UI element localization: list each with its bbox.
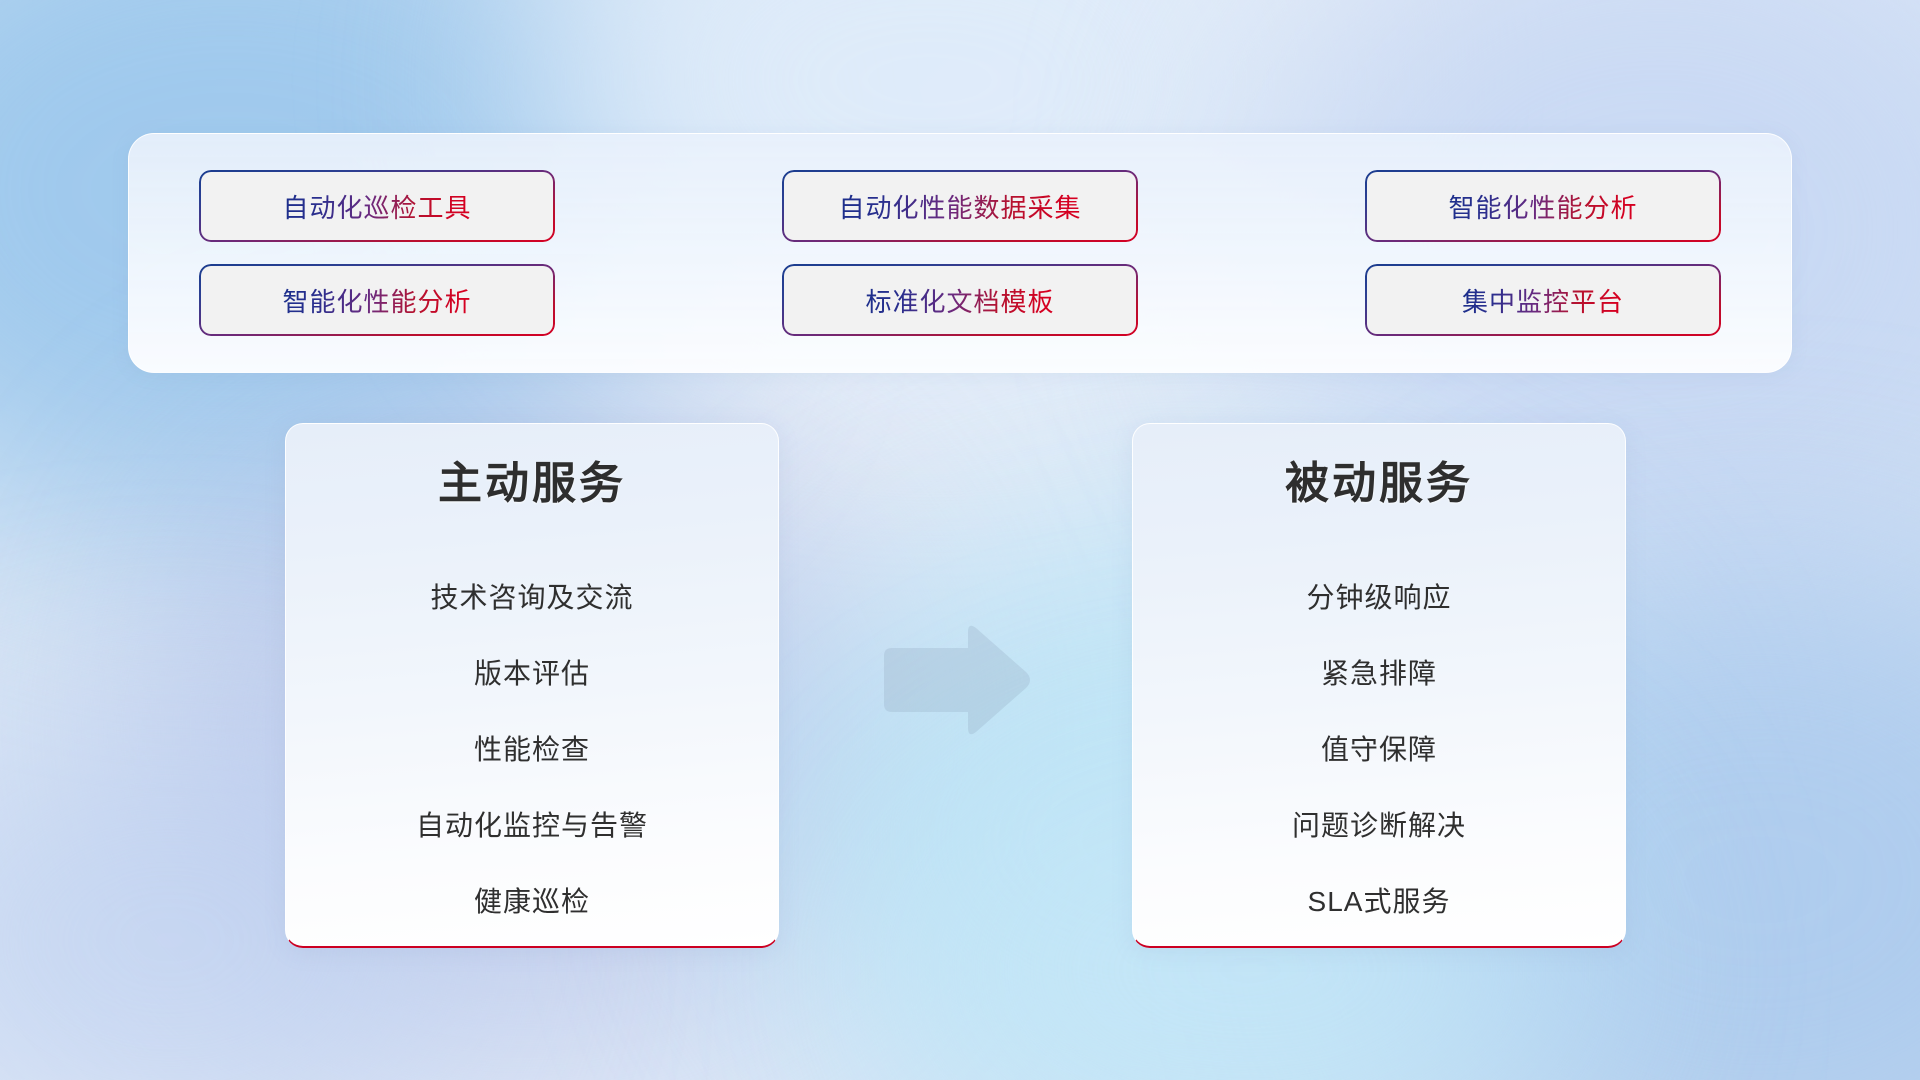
service-card-title: 被动服务 xyxy=(1285,460,1473,508)
capability-row-1: 自动化巡检工具 自动化性能数据采集 智能化性能分析 xyxy=(199,170,1721,242)
list-item: 性能检查 xyxy=(474,712,590,788)
service-item-list: 技术咨询及交流 版本评估 性能检查 自动化监控与告警 健康巡检 xyxy=(314,560,750,940)
capability-pill-automated-inspection-tool[interactable]: 自动化巡检工具 xyxy=(199,170,555,242)
list-item: 健康巡检 xyxy=(474,864,590,940)
list-item: 版本评估 xyxy=(474,636,590,712)
slide-canvas: 自动化巡检工具 自动化性能数据采集 智能化性能分析 智能化性能分析 标准化文档模… xyxy=(0,0,1920,1080)
capability-row-2: 智能化性能分析 标准化文档模板 集中监控平台 xyxy=(199,264,1721,336)
capability-pill-label: 集中监控平台 xyxy=(1462,282,1624,319)
service-card-passive: 被动服务 分钟级响应 紧急排障 值守保障 问题诊断解决 SLA式服务 xyxy=(1132,423,1626,948)
right-arrow-icon xyxy=(876,620,1036,740)
capability-pill-label: 智能化性能分析 xyxy=(282,282,471,319)
list-item: 自动化监控与告警 xyxy=(416,788,648,864)
service-item-list: 分钟级响应 紧急排障 值守保障 问题诊断解决 SLA式服务 xyxy=(1161,560,1597,940)
capability-pill-standardized-document-template[interactable]: 标准化文档模板 xyxy=(782,264,1138,336)
list-item: 技术咨询及交流 xyxy=(430,560,633,636)
capability-pill-label: 标准化文档模板 xyxy=(865,282,1054,319)
service-card-title: 主动服务 xyxy=(438,460,626,508)
capability-pill-intelligent-performance-analysis-2[interactable]: 智能化性能分析 xyxy=(199,264,555,336)
capability-pill-label: 自动化性能数据采集 xyxy=(838,188,1081,225)
service-card-active: 主动服务 技术咨询及交流 版本评估 性能检查 自动化监控与告警 健康巡检 xyxy=(285,423,779,948)
list-item: SLA式服务 xyxy=(1308,864,1451,940)
capability-pill-intelligent-performance-analysis[interactable]: 智能化性能分析 xyxy=(1365,170,1721,242)
capability-panel: 自动化巡检工具 自动化性能数据采集 智能化性能分析 智能化性能分析 标准化文档模… xyxy=(128,133,1792,373)
capability-pill-automated-performance-data-collection[interactable]: 自动化性能数据采集 xyxy=(782,170,1138,242)
list-item: 分钟级响应 xyxy=(1306,560,1451,636)
capability-pill-centralized-monitoring-platform[interactable]: 集中监控平台 xyxy=(1365,264,1721,336)
capability-pill-label: 智能化性能分析 xyxy=(1448,188,1637,225)
list-item: 紧急排障 xyxy=(1321,636,1437,712)
list-item: 问题诊断解决 xyxy=(1292,788,1466,864)
capability-pill-label: 自动化巡检工具 xyxy=(282,188,471,225)
list-item: 值守保障 xyxy=(1321,712,1437,788)
